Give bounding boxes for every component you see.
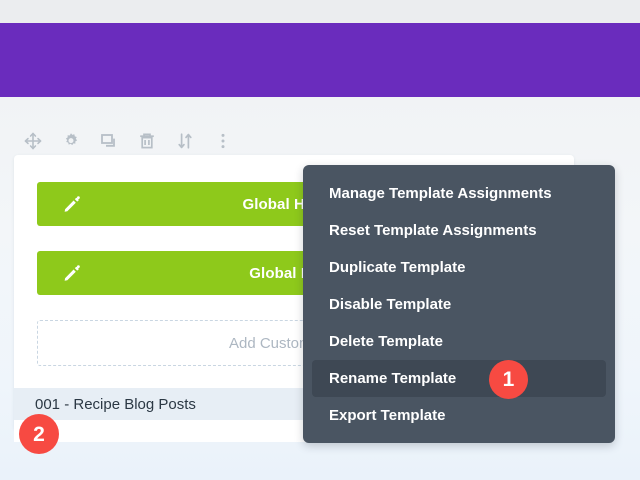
duplicate-icon[interactable]	[98, 130, 120, 152]
menu-item-disable-template[interactable]: Disable Template	[303, 286, 615, 323]
menu-item-rename-template[interactable]: Rename Template	[312, 360, 606, 397]
menu-item-duplicate-template[interactable]: Duplicate Template	[303, 249, 615, 286]
top-strip	[0, 0, 640, 23]
menu-item-label: Export Template	[329, 407, 445, 424]
move-icon[interactable]	[22, 130, 44, 152]
menu-item-export-template[interactable]: Export Template	[303, 397, 615, 434]
menu-item-manage-template-assignments[interactable]: Manage Template Assignments	[303, 175, 615, 212]
menu-item-reset-template-assignments[interactable]: Reset Template Assignments	[303, 212, 615, 249]
module-toolbar	[22, 128, 234, 154]
step-badge-2: 2	[19, 414, 59, 454]
template-context-menu: Manage Template Assignments Reset Templa…	[303, 165, 615, 443]
step-badge-1: 1	[489, 360, 528, 399]
sort-icon[interactable]	[174, 130, 196, 152]
menu-item-label: Duplicate Template	[329, 259, 465, 276]
menu-item-label: Rename Template	[329, 370, 456, 387]
menu-item-label: Manage Template Assignments	[329, 185, 552, 202]
screen-root: Global Header Global Body Add Custom Foo…	[0, 0, 640, 480]
gear-icon[interactable]	[60, 130, 82, 152]
purple-banner	[0, 23, 640, 97]
template-name: 001 - Recipe Blog Posts	[35, 396, 196, 413]
menu-item-label: Disable Template	[329, 296, 451, 313]
menu-item-label: Delete Template	[329, 333, 443, 350]
menu-item-label: Reset Template Assignments	[329, 222, 537, 239]
trash-icon[interactable]	[136, 130, 158, 152]
pencil-icon	[62, 194, 82, 214]
menu-item-delete-template[interactable]: Delete Template	[303, 323, 615, 360]
pencil-icon	[62, 263, 82, 283]
more-vertical-icon[interactable]	[212, 130, 234, 152]
